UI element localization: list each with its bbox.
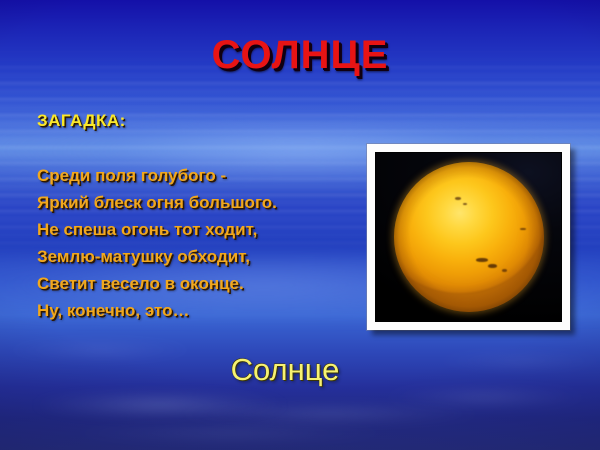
sunspot [476, 258, 488, 262]
sunspot [463, 203, 467, 205]
photo-frame-inner-mat [372, 149, 565, 325]
riddle-line: Ну, конечно, это… [37, 297, 357, 324]
slide-title: СОЛНЦЕ [0, 33, 600, 78]
riddle-line: Землю-матушку обходит, [37, 243, 357, 270]
riddle-line: Яркий блеск огня большого. [37, 189, 357, 216]
riddle-line: Светит весело в оконце. [37, 270, 357, 297]
photo-frame [367, 144, 570, 330]
sun-disk [394, 162, 544, 312]
riddle-text: Среди поля голубого - Яркий блеск огня б… [37, 162, 357, 324]
riddle-label: ЗАГАДКА: [37, 111, 126, 131]
sunspot [502, 269, 507, 272]
sunspot [520, 228, 526, 230]
sunspot [488, 264, 497, 268]
sun-photograph [375, 152, 562, 322]
riddle-line: Не спеша огонь тот ходит, [37, 216, 357, 243]
presentation-slide: СОЛНЦЕ ЗАГАДКА: Среди поля голубого - Яр… [0, 0, 600, 450]
sunspot [455, 197, 461, 200]
riddle-line: Среди поля голубого - [37, 162, 357, 189]
sun-limb-darkening [394, 162, 544, 312]
riddle-answer: Солнце [140, 352, 430, 388]
